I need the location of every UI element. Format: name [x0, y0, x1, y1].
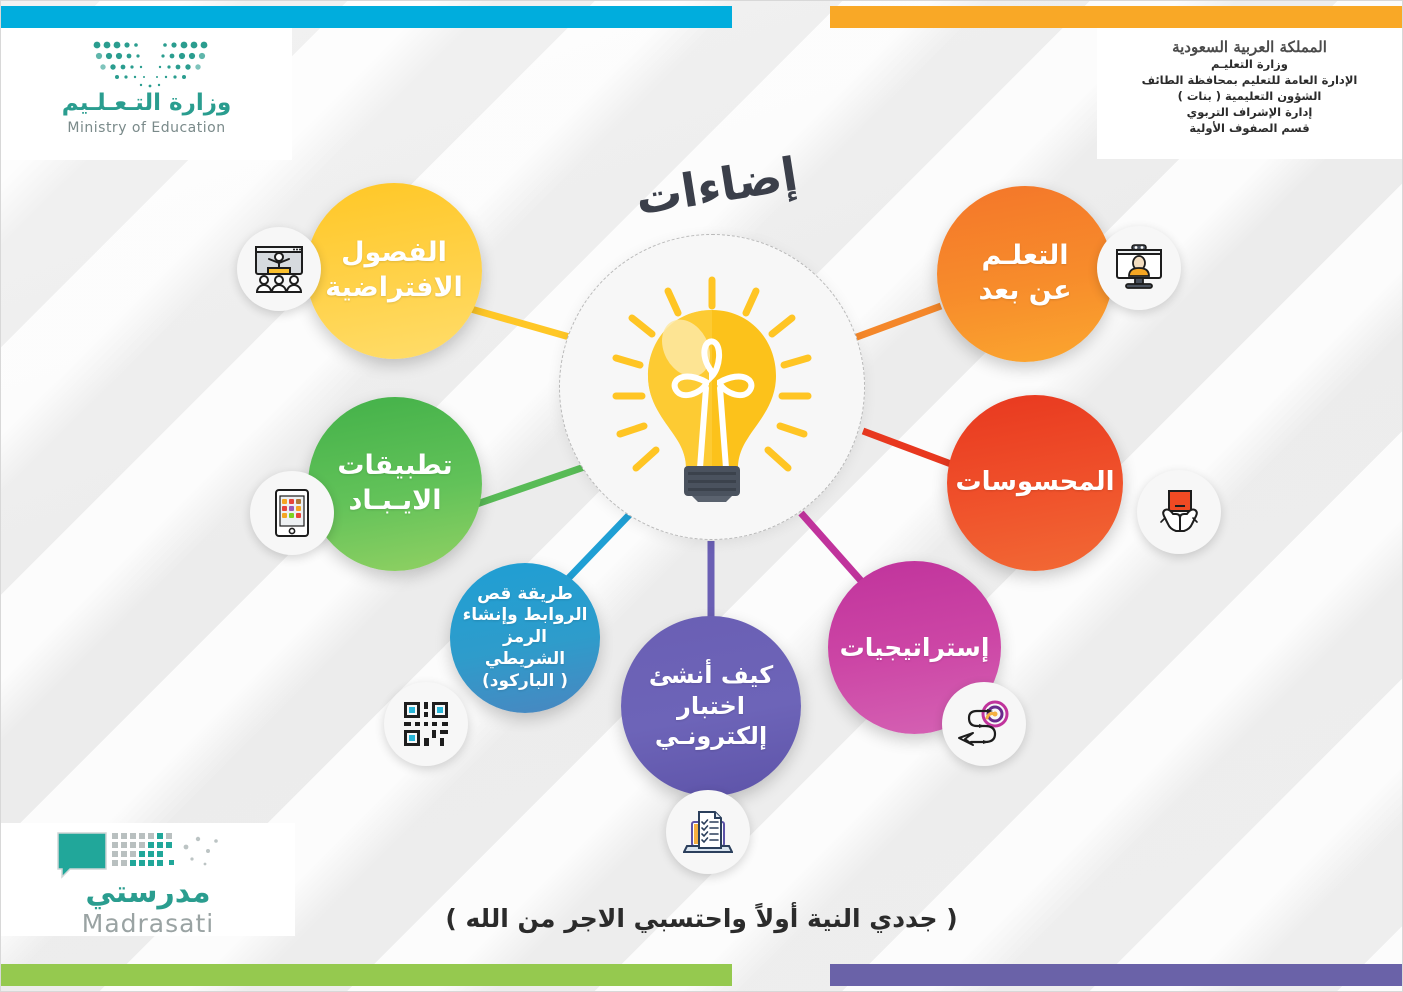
ministry-line-4: إدارة الإشراف التربوي: [1097, 104, 1402, 120]
icon-badge-electronic-test[interactable]: [666, 790, 750, 874]
icon-badge-distance-learning[interactable]: [1097, 226, 1181, 310]
hands-holding-cube-icon: [1153, 488, 1205, 536]
connector-tangible: [863, 431, 951, 464]
connector-strategy: [801, 513, 863, 583]
ministry-line-1: وزارة التعليـم: [1097, 56, 1402, 72]
icon-badge-barcode[interactable]: [384, 682, 468, 766]
connector-ipad: [471, 464, 593, 506]
moe-logo-arabic: وزارة التـعـلـيم: [1, 90, 292, 116]
moe-logo-english: Ministry of Education: [1, 120, 292, 136]
topic-bubble-virtual-classrooms[interactable]: الفصول الافتراضية: [306, 183, 482, 359]
ministry-of-education-logo: وزارة التـعـلـيم Ministry of Education: [1, 28, 292, 160]
topic-bubble-ipad-apps[interactable]: تطبيقات الايـبـاد: [308, 397, 482, 571]
bottom-right-color-bar: [830, 964, 1403, 986]
checklist-laptop-icon: [683, 808, 733, 856]
ministry-header-text: المملكة العربية السعودية وزارة التعليـم …: [1097, 28, 1402, 159]
icon-badge-ipad-apps[interactable]: [250, 471, 334, 555]
topic-bubble-distance-learning[interactable]: التعلـم عن بعد: [937, 186, 1113, 362]
topic-label-electronic-test: كيف أنشئ اختبار إلكترونـي: [639, 660, 783, 752]
topic-bubble-tangibles[interactable]: المحسوسات: [947, 395, 1123, 571]
ministry-line-3: الشؤون التعليمية ( بنات ): [1097, 88, 1402, 104]
ministry-line-5: قسم الصفوف الأولية: [1097, 120, 1402, 136]
topic-label-ipad-apps: تطبيقات الايـبـاد: [327, 449, 462, 518]
infographic-poster: وزارة التـعـلـيم Ministry of Education ا…: [0, 0, 1403, 992]
saudi-crest-text: المملكة العربية السعودية: [1097, 38, 1402, 56]
center-hub: [559, 234, 865, 540]
topic-label-strategies: إستراتيجيات: [830, 632, 1000, 664]
bottom-left-color-bar: [1, 964, 732, 986]
topic-label-distance-learning: التعلـم عن بعد: [968, 239, 1081, 308]
footer-caption: ( جددي النية أولاً واحتسبي الاجر من الله…: [1, 904, 1402, 933]
video-monitor-icon: [1113, 244, 1165, 292]
moe-dot-pattern-icon: [91, 40, 211, 88]
icon-badge-tangibles[interactable]: [1137, 470, 1221, 554]
qr-code-icon: [402, 700, 450, 748]
topic-bubble-electronic-test[interactable]: كيف أنشئ اختبار إلكترونـي: [621, 616, 801, 796]
page-title: إضاءات: [601, 159, 831, 229]
page-title-text: إضاءات: [631, 147, 800, 226]
top-left-color-bar: [1, 6, 732, 28]
icon-badge-strategies[interactable]: [942, 682, 1026, 766]
connector-distance: [846, 306, 941, 341]
madrasati-logo-icon: [56, 831, 246, 879]
icon-badge-virtual-classrooms[interactable]: [237, 227, 321, 311]
target-arrow-icon: [957, 700, 1011, 748]
top-right-color-bar: [830, 6, 1403, 28]
connector-barcode: [561, 513, 631, 586]
topic-bubble-barcode[interactable]: طريقة قص الروابط وإنشاء الرمز الشريطي ( …: [450, 563, 600, 713]
topic-label-virtual-classrooms: الفصول الافتراضية: [315, 236, 473, 305]
topic-label-barcode: طريقة قص الروابط وإنشاء الرمز الشريطي ( …: [450, 584, 600, 693]
ministry-line-2: الإدارة العامة للتعليم بمحافظة الطائف: [1097, 72, 1402, 88]
topic-label-tangibles: المحسوسات: [945, 466, 1124, 499]
tablet-apps-icon: [274, 488, 310, 538]
lightbulb-icon: [602, 272, 822, 502]
virtual-classroom-icon: [252, 244, 306, 294]
